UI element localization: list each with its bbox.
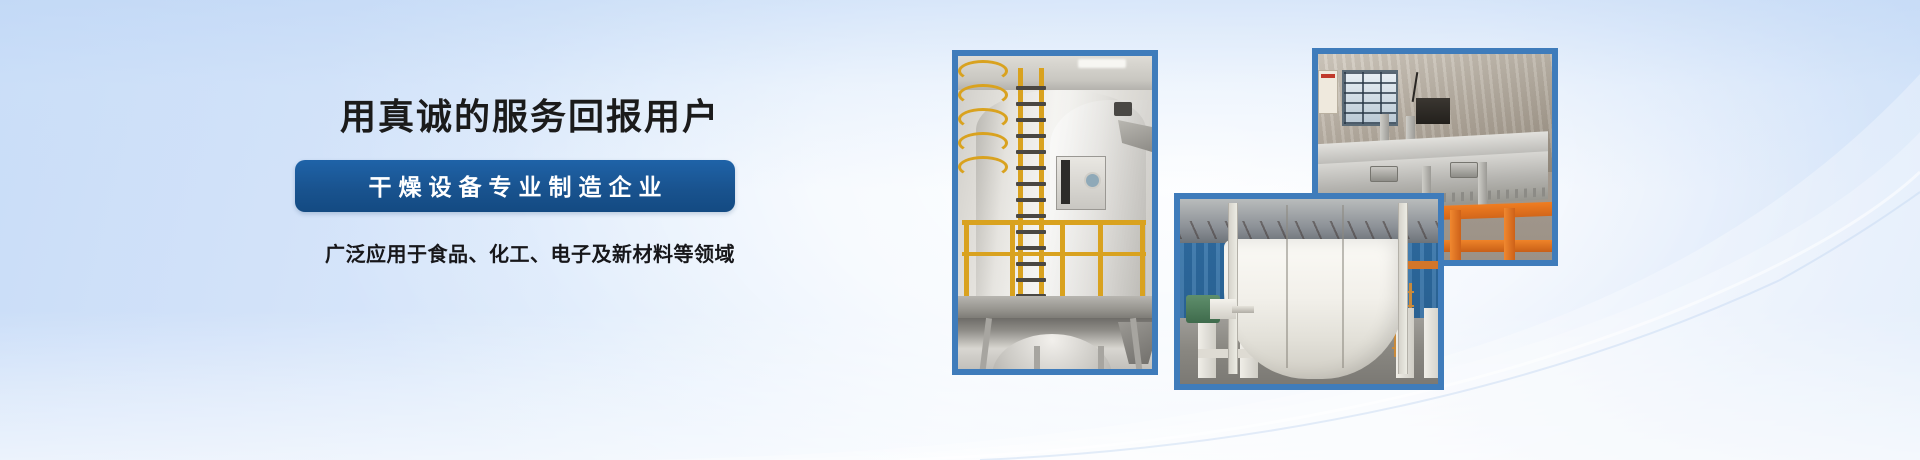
page-title: 用真诚的服务回报用户 — [295, 96, 765, 138]
banner-subtitle: 广泛应用于食品、化工、电子及新材料等领域 — [295, 238, 765, 267]
tagline-pill-button[interactable]: 干燥设备专业制造企业 — [295, 160, 735, 212]
banner-copy: 用真诚的服务回报用户 干燥设备专业制造企业 广泛应用于食品、化工、电子及新材料等… — [295, 96, 765, 267]
photo-image-ribbon-mixer — [1180, 199, 1438, 384]
photo-card-ribbon-mixer[interactable] — [1174, 193, 1444, 390]
hero-banner: 用真诚的服务回报用户 干燥设备专业制造企业 广泛应用于食品、化工、电子及新材料等… — [0, 0, 1920, 460]
photo-image-spray-dryer-tower — [958, 56, 1152, 369]
photo-card-spray-dryer-tower[interactable] — [952, 50, 1158, 375]
